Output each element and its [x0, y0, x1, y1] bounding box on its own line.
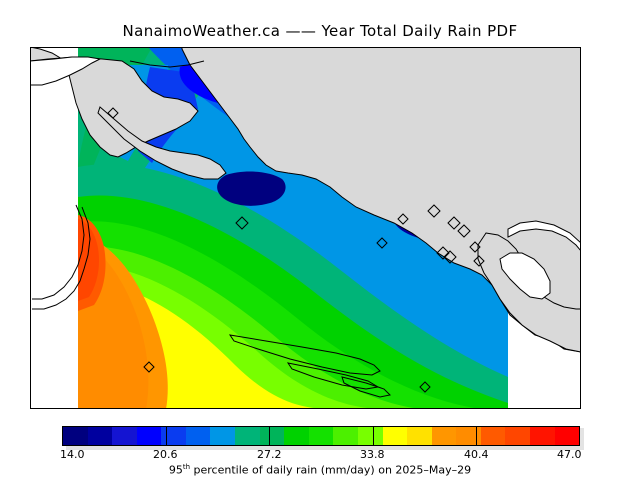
colorbar-segment	[309, 427, 334, 445]
colorbar-segment	[63, 427, 88, 445]
colorbar-tick-line	[166, 426, 167, 446]
colorbar-segment	[260, 427, 285, 445]
colorbar-segment	[358, 427, 383, 445]
colorbar-segment	[333, 427, 358, 445]
colorbar-tick-label: 27.2	[257, 448, 282, 461]
colorbar-segment	[432, 427, 457, 445]
colorbar-segment	[210, 427, 235, 445]
colorbar-tick-line	[373, 426, 374, 446]
weather-map-figure: NanaimoWeather.ca —— Year Total Daily Ra…	[0, 0, 640, 480]
colorbar-segment	[383, 427, 408, 445]
colorbar-tick-label: 14.0	[60, 448, 85, 461]
colorbar-segment	[481, 427, 506, 445]
colorbar-segment	[186, 427, 211, 445]
colorbar-segment	[530, 427, 555, 445]
colorbar-segment	[407, 427, 432, 445]
colorbar-segment	[456, 427, 481, 445]
caption-superscript: th	[183, 463, 190, 471]
colorbar-segment	[555, 427, 580, 445]
colorbar-segment	[112, 427, 137, 445]
colorbar-tick-line	[476, 426, 477, 446]
colorbar-tick-line	[269, 426, 270, 446]
colorbar-segment	[505, 427, 530, 445]
colorbar-tick-label: 33.8	[360, 448, 385, 461]
contour-pocket-00007f-nw	[217, 172, 285, 206]
colorbar-segment	[284, 427, 309, 445]
colorbar-gradient	[62, 426, 580, 446]
colorbar-tick-label: 40.4	[464, 448, 489, 461]
map-plot-area	[30, 47, 581, 409]
page-title: NanaimoWeather.ca —— Year Total Daily Ra…	[0, 22, 640, 40]
colorbar-segment	[235, 427, 260, 445]
colorbar-tick-label: 20.6	[153, 448, 178, 461]
colorbar: 14.020.627.233.840.447.0 95th percentile…	[0, 424, 640, 480]
colorbar-segment	[161, 427, 186, 445]
colorbar-caption: 95th percentile of daily rain (mm/day) o…	[0, 463, 640, 477]
contour-map	[30, 47, 581, 409]
colorbar-segment	[88, 427, 113, 445]
colorbar-tick-label: 47.0	[557, 448, 582, 461]
colorbar-segment	[137, 427, 162, 445]
